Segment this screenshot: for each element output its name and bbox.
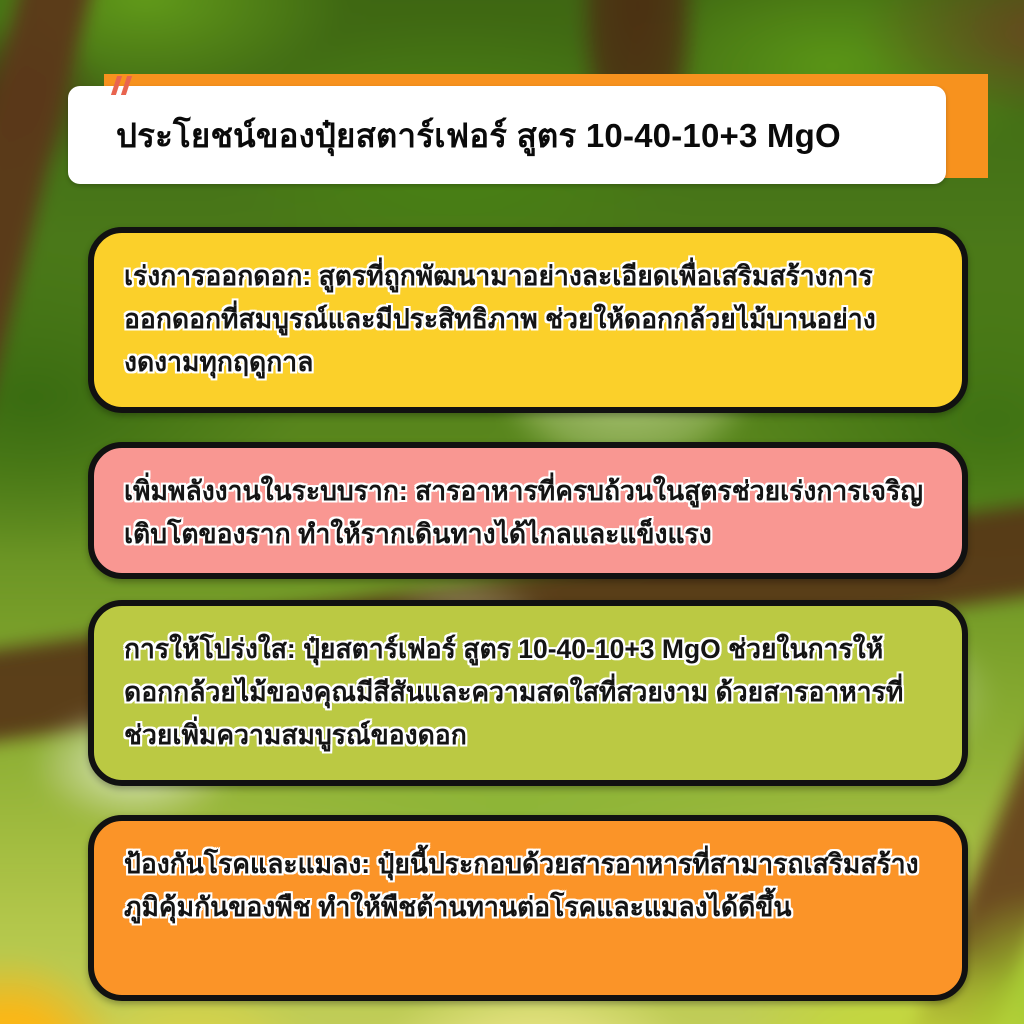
benefit-card-flowering: เร่งการออกดอก: สูตรที่ถูกพัฒนามาอย่างละเ…: [88, 227, 968, 413]
benefit-card-text: ป้องกันโรคและแมลง: ปุ๋ยนี้ประกอบด้วยสารอ…: [124, 843, 932, 929]
benefit-card-text: เร่งการออกดอก: สูตรที่ถูกพัฒนามาอย่างละเ…: [124, 255, 932, 384]
page-title: ประโยชน์ของปุ๋ยสตาร์เฟอร์ สูตร 10-40-10+…: [68, 109, 841, 162]
benefit-card-roots: เพิ่มพลังงานในระบบราก: สารอาหารที่ครบถ้ว…: [88, 442, 968, 579]
benefit-card-text: เพิ่มพลังงานในระบบราก: สารอาหารที่ครบถ้ว…: [124, 470, 932, 556]
benefit-card-text: การให้โปร่งใส: ปุ๋ยสตาร์เฟอร์ สูตร 10-40…: [124, 628, 932, 757]
benefit-card-color: การให้โปร่งใส: ปุ๋ยสตาร์เฟอร์ สูตร 10-40…: [88, 600, 968, 786]
promotional-poster: ประโยชน์ของปุ๋ยสตาร์เฟอร์ สูตร 10-40-10+…: [0, 0, 1024, 1024]
title-card: ประโยชน์ของปุ๋ยสตาร์เฟอร์ สูตร 10-40-10+…: [68, 86, 946, 184]
benefit-card-protection: ป้องกันโรคและแมลง: ปุ๋ยนี้ประกอบด้วยสารอ…: [88, 815, 968, 1001]
